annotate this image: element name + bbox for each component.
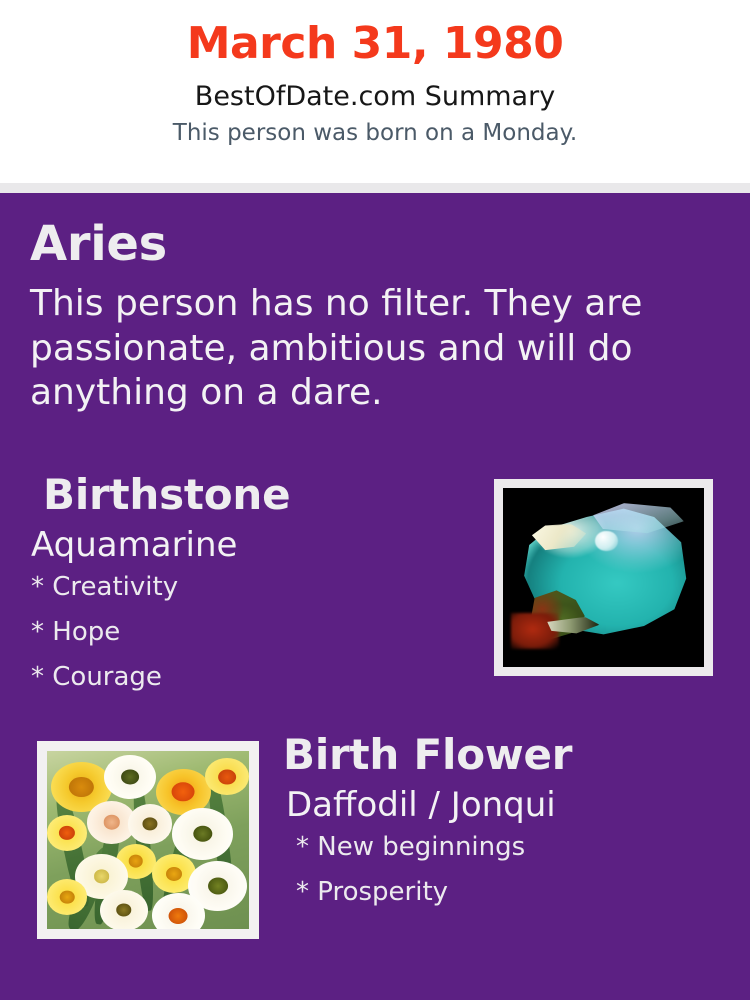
crystal-red-mineral-icon — [511, 613, 559, 649]
list-item: * Courage — [31, 664, 471, 709]
list-item: * Creativity — [31, 574, 471, 619]
daffodil-icon — [172, 808, 233, 860]
flower-core — [60, 891, 75, 904]
birth-flower-name: Daffodil / Jonqui — [283, 776, 723, 822]
list-item: * Prosperity — [283, 879, 723, 924]
zodiac-section: Aries This person has no filter. They ar… — [30, 220, 670, 416]
birthstone-heading: Birthstone — [31, 474, 471, 516]
birth-flower-section: Birth Flower Daffodil / Jonqui * New beg… — [283, 734, 723, 924]
flower-core — [129, 855, 144, 868]
birthstone-section: Birthstone Aquamarine * Creativity * Hop… — [31, 474, 471, 709]
flower-core — [169, 908, 188, 924]
crystal-bubble-icon — [595, 531, 617, 551]
zodiac-description: This person has no filter. They are pass… — [30, 268, 650, 416]
flower-core — [208, 878, 228, 895]
daffodil-icon — [104, 755, 157, 800]
birthstone-image-frame — [494, 479, 713, 676]
flower-core — [59, 826, 75, 840]
daffodil-icon — [47, 815, 87, 851]
birthstone-name: Aquamarine — [31, 516, 471, 562]
card-header: March 31, 1980 BestOfDate.com Summary Th… — [0, 0, 750, 183]
summary-card: March 31, 1980 BestOfDate.com Summary Th… — [0, 0, 750, 1000]
flower-core — [172, 782, 195, 801]
list-item: * New beginnings — [283, 834, 723, 879]
birth-flower-trait-list: * New beginnings * Prosperity — [283, 822, 723, 924]
birthstone-image — [503, 488, 704, 667]
flower-core — [193, 826, 212, 843]
birth-flower-image-frame — [37, 741, 259, 939]
flower-core — [142, 817, 157, 830]
flower-core — [94, 870, 110, 883]
site-summary-label: BestOfDate.com Summary — [0, 66, 750, 110]
flower-core — [166, 867, 182, 881]
birthstone-trait-list: * Creativity * Hope * Courage — [31, 562, 471, 709]
birth-flower-heading: Birth Flower — [283, 734, 723, 776]
birth-flower-image — [47, 751, 249, 929]
daffodil-icon — [205, 758, 249, 795]
flower-core — [116, 904, 132, 917]
daffodil-icon — [100, 890, 148, 929]
flower-core — [103, 815, 119, 830]
flower-core — [121, 769, 139, 784]
details-panel: Aries This person has no filter. They ar… — [0, 193, 750, 1000]
zodiac-sign-name: Aries — [30, 220, 670, 268]
flower-core — [218, 769, 236, 784]
list-item: * Hope — [31, 619, 471, 664]
daffodil-icon — [47, 879, 87, 915]
header-divider — [0, 183, 750, 193]
page-title: March 31, 1980 — [0, 22, 750, 66]
flower-core — [69, 777, 93, 797]
daffodil-icon — [152, 893, 205, 929]
daffodil-icon — [128, 804, 172, 843]
born-weekday-text: This person was born on a Monday. — [0, 110, 750, 145]
